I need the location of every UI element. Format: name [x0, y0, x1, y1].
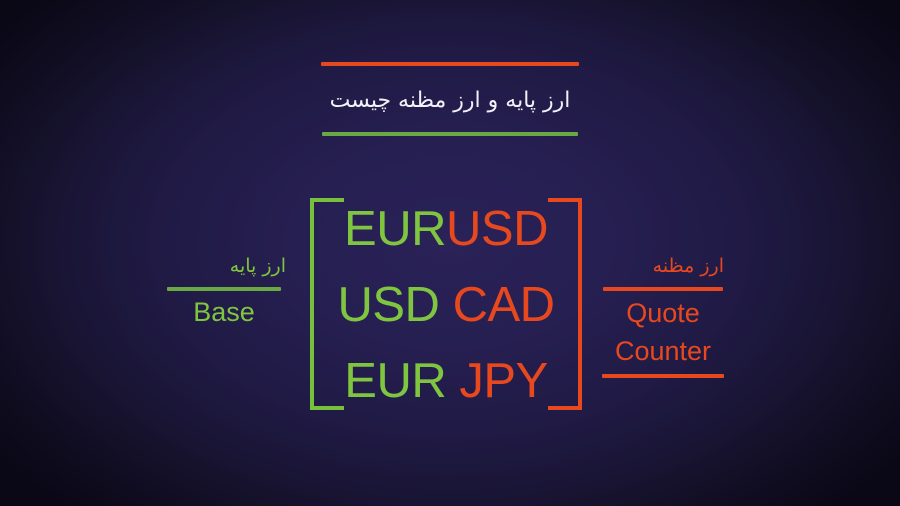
currency-pairs-group: EURUSD USD CAD EUR JPY [310, 198, 582, 410]
pair-quote-currency: JPY [459, 354, 547, 408]
pair-quote-currency: USD [446, 202, 548, 256]
counter-label-english: Counter [598, 332, 728, 370]
quote-label-english: Quote [598, 294, 728, 332]
pair-separator [439, 278, 452, 332]
base-label-divider [167, 287, 281, 291]
quote-label-divider-bottom [602, 374, 724, 378]
pair-base-currency: USD [337, 278, 439, 332]
pair-separator [446, 354, 459, 408]
quote-label-divider-top [603, 287, 723, 291]
pair-base-currency: EUR [344, 202, 446, 256]
base-label-english: Base [160, 293, 288, 331]
currency-pairs-list: EURUSD USD CAD EUR JPY [310, 198, 582, 410]
quote-currency-label-group: ارز مظنه Quote Counter [598, 252, 728, 378]
pair-quote-currency: CAD [453, 278, 555, 332]
currency-pair-row: EUR JPY [310, 354, 582, 408]
currency-pair-row: USD CAD [310, 278, 582, 332]
base-currency-label-group: ارز پایه Base [160, 252, 288, 331]
title-block: ارز پایه و ارز مظنه چیست [318, 62, 582, 136]
slide-canvas: ارز پایه و ارز مظنه چیست EURUSD USD CAD … [0, 0, 900, 506]
quote-label-persian: ارز مظنه [598, 252, 728, 285]
base-label-persian: ارز پایه [160, 252, 288, 285]
title-bottom-divider [322, 132, 578, 136]
pair-base-currency: EUR [344, 354, 446, 408]
page-title: ارز پایه و ارز مظنه چیست [318, 66, 582, 132]
currency-pair-row: EURUSD [310, 202, 582, 256]
